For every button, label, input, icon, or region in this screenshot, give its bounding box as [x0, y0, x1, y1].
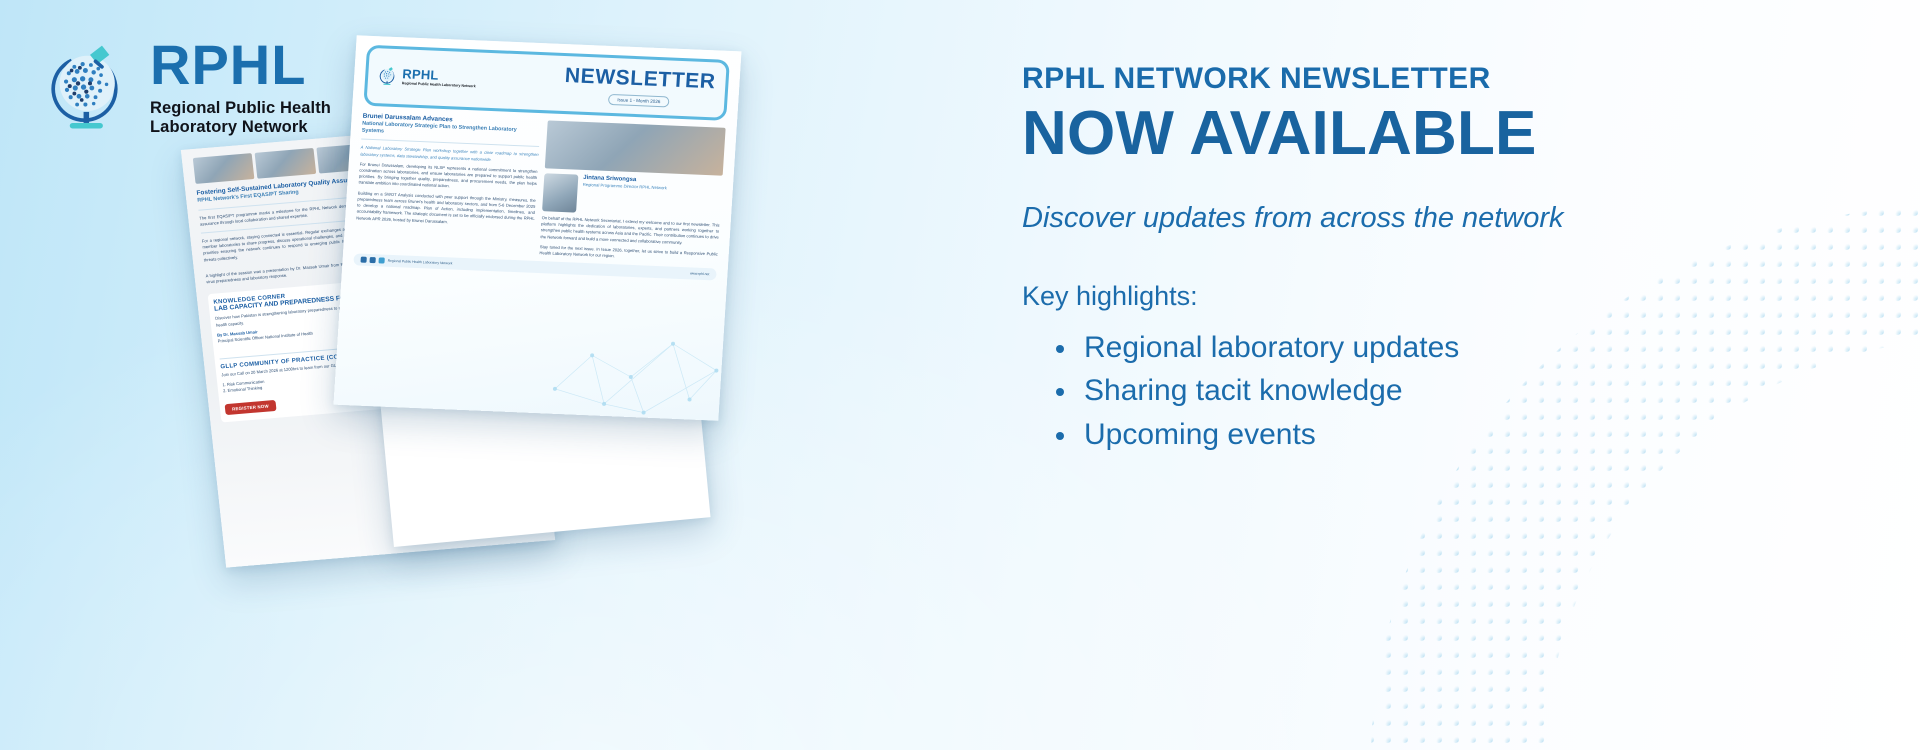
subhead-text: Discover updates from across the network: [1022, 201, 1842, 236]
highlight-item: Upcoming events: [1080, 413, 1842, 457]
promo-copy-block: RPHL NETWORK NEWSLETTER NOW AVAILABLE Di…: [1022, 62, 1842, 456]
newsletter-promo-banner: RPHL Regional Public Health Laboratory N…: [0, 0, 1920, 750]
newsletter-page-front: RPHL Regional Public Health Laboratory N…: [334, 35, 742, 420]
newsletter-page-mockups: Fostering Self-Sustained Laboratory Qual…: [195, 25, 855, 585]
facebook-icon[interactable]: [360, 257, 366, 263]
front-profile-body: On behalf of the RPHL Network Secretaria…: [540, 215, 719, 247]
highlight-item: Sharing tacit knowledge: [1080, 369, 1842, 413]
footer-text: Regional Public Health Laboratory Networ…: [388, 259, 453, 266]
highlights-label: Key highlights:: [1022, 280, 1842, 312]
front-body-2: Building on a SWOT Analysis conducted wi…: [356, 190, 536, 228]
linkedin-icon[interactable]: [369, 257, 375, 263]
eyebrow-text: RPHL NETWORK NEWSLETTER: [1022, 62, 1842, 95]
highlight-item: Regional laboratory updates: [1080, 326, 1842, 370]
newsletter-title: NEWSLETTER: [564, 64, 716, 94]
network-pattern-decoration: [548, 294, 725, 421]
newsletter-masthead: RPHL Regional Public Health Laboratory N…: [363, 45, 730, 121]
front-body-1: For Brunei Darussalam, developing its NL…: [358, 161, 537, 193]
front-hero-photo: [545, 120, 726, 175]
globe-microscope-icon-small: [378, 65, 399, 87]
highlights-list: Regional laboratory updates Sharing taci…: [1022, 326, 1842, 457]
register-now-button[interactable]: REGISTER NOW: [225, 400, 277, 415]
rphl-mark-icon: [378, 258, 384, 264]
headline-text: NOW AVAILABLE: [1022, 101, 1842, 167]
newsletter-issue-badge: Issue 1 - Month 2026: [608, 94, 670, 108]
globe-microscope-icon: [44, 40, 136, 136]
footer-url[interactable]: www.rphl.net: [690, 272, 710, 277]
front-profile-close: Stay tuned for the next issue. In Issue …: [539, 244, 718, 264]
avatar: [542, 173, 578, 212]
